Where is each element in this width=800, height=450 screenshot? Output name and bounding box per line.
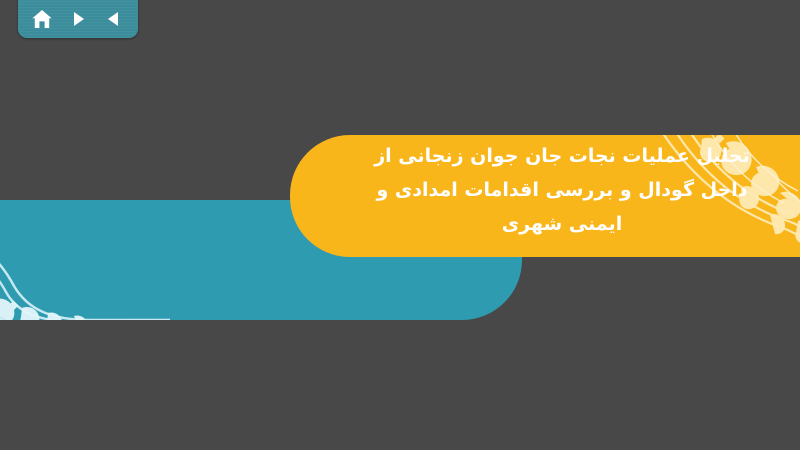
title-line-2: داخل گودال و بررسی اقدامات امدادی و [362,173,762,207]
home-icon [32,10,52,29]
title-banner: تحلیل عملیات نجات جان جوان زنجانی از داخ… [290,135,800,257]
slide-stage: تحلیل عملیات نجات جان جوان زنجانی از داخ… [0,0,800,450]
slide-title: تحلیل عملیات نجات جان جوان زنجانی از داخ… [362,139,762,241]
title-line-3: ایمنی شهری [362,207,762,241]
forward-button[interactable] [65,7,91,31]
teal-arabesque-ornament [0,200,170,320]
home-button[interactable] [29,7,55,31]
title-line-1: تحلیل عملیات نجات جان جوان زنجانی از [362,139,762,173]
forward-triangle-icon [69,10,87,28]
back-button[interactable] [101,7,127,31]
navigation-toolbar [18,0,138,38]
back-triangle-icon [105,10,123,28]
